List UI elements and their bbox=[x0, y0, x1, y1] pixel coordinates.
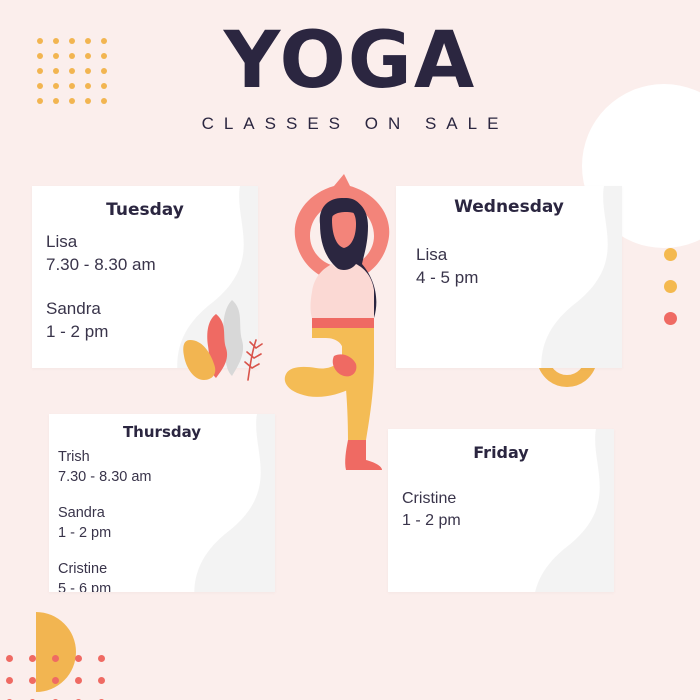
slot-time: 7.30 - 8.30 am bbox=[46, 253, 258, 276]
page-title: YOGA bbox=[0, 22, 700, 100]
list-item: Cristine 5 - 6 pm bbox=[58, 559, 275, 592]
dot-grid-bottom-left bbox=[6, 655, 121, 700]
list-item: Sandra 1 - 2 pm bbox=[46, 297, 258, 344]
list-item: Cristine 1 - 2 pm bbox=[402, 488, 614, 532]
slot-time: 4 - 5 pm bbox=[416, 266, 622, 289]
slot-instructor: Sandra bbox=[58, 503, 275, 523]
schedule-card-thursday[interactable]: Thursday Trish 7.30 - 8.30 am Sandra 1 -… bbox=[49, 414, 275, 592]
slot-instructor: Sandra bbox=[46, 297, 258, 320]
poster-header: YOGA CLASSES ON SALE bbox=[0, 22, 700, 134]
list-item: Lisa 7.30 - 8.30 am bbox=[46, 230, 258, 277]
slot-time: 5 - 6 pm bbox=[58, 579, 275, 592]
grid-dot bbox=[29, 655, 36, 662]
slot-time: 1 - 2 pm bbox=[58, 523, 275, 543]
schedule-card-friday[interactable]: Friday Cristine 1 - 2 pm bbox=[388, 429, 614, 592]
card-slot-list: Cristine 1 - 2 pm bbox=[402, 488, 614, 532]
grid-dot bbox=[6, 655, 13, 662]
slot-time: 1 - 2 pm bbox=[46, 320, 258, 343]
schedule-card-tuesday[interactable]: Tuesday Lisa 7.30 - 8.30 am Sandra 1 - 2… bbox=[32, 186, 258, 368]
grid-dot bbox=[29, 677, 36, 684]
side-dot-yellow-1 bbox=[664, 248, 677, 261]
card-slot-list: Lisa 4 - 5 pm bbox=[416, 243, 622, 290]
card-slot-list: Trish 7.30 - 8.30 am Sandra 1 - 2 pm Cri… bbox=[58, 447, 275, 592]
grid-dot bbox=[52, 655, 59, 662]
yoga-poster: YOGA CLASSES ON SALE Tuesday Lisa 7.30 -… bbox=[0, 0, 700, 700]
side-dot-coral-3 bbox=[664, 312, 677, 325]
slot-instructor: Trish bbox=[58, 447, 275, 467]
grid-dot bbox=[52, 677, 59, 684]
grid-dot bbox=[75, 655, 82, 662]
grid-dot bbox=[98, 655, 105, 662]
card-slot-list: Lisa 7.30 - 8.30 am Sandra 1 - 2 pm bbox=[46, 230, 258, 344]
card-day-label: Friday bbox=[388, 443, 614, 462]
card-day-label: Wednesday bbox=[396, 197, 622, 217]
side-dot-yellow-2 bbox=[664, 280, 677, 293]
list-item: Sandra 1 - 2 pm bbox=[58, 503, 275, 543]
card-day-label: Tuesday bbox=[32, 200, 258, 220]
grid-dot bbox=[98, 677, 105, 684]
yoga-figure-illustration bbox=[276, 168, 416, 484]
grid-dot bbox=[6, 677, 13, 684]
slot-time: 1 - 2 pm bbox=[402, 510, 614, 532]
side-dot-decoration bbox=[664, 248, 677, 325]
page-subtitle: CLASSES ON SALE bbox=[0, 114, 700, 134]
slot-instructor: Lisa bbox=[46, 230, 258, 253]
slot-instructor: Cristine bbox=[58, 559, 275, 579]
list-item: Trish 7.30 - 8.30 am bbox=[58, 447, 275, 487]
slot-instructor: Cristine bbox=[402, 488, 614, 510]
grid-dot bbox=[75, 677, 82, 684]
schedule-card-wednesday[interactable]: Wednesday Lisa 4 - 5 pm bbox=[396, 186, 622, 368]
card-day-label: Thursday bbox=[49, 423, 275, 441]
slot-instructor: Lisa bbox=[416, 243, 622, 266]
slot-time: 7.30 - 8.30 am bbox=[58, 467, 275, 487]
list-item: Lisa 4 - 5 pm bbox=[416, 243, 622, 290]
